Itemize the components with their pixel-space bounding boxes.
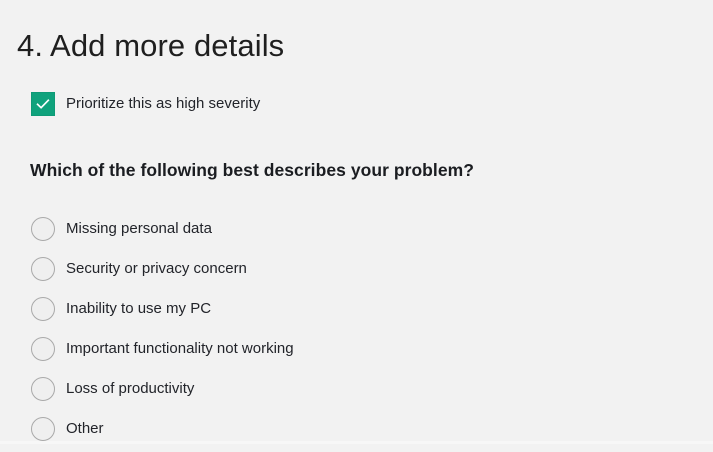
radio-option-important-functionality-not-working[interactable]: Important functionality not working <box>31 329 671 369</box>
bottom-spacer <box>0 444 713 452</box>
radio-option-label: Missing personal data <box>66 219 212 239</box>
check-icon <box>35 96 51 112</box>
radio-circle-icon[interactable] <box>31 257 55 281</box>
radio-option-label: Important functionality not working <box>66 339 294 359</box>
problem-type-radio-group: Missing personal data Security or privac… <box>31 209 671 449</box>
radio-option-inability-to-use-my-pc[interactable]: Inability to use my PC <box>31 289 671 329</box>
high-severity-checkbox-row[interactable]: Prioritize this as high severity <box>31 92 260 116</box>
radio-option-loss-of-productivity[interactable]: Loss of productivity <box>31 369 671 409</box>
radio-circle-icon[interactable] <box>31 417 55 441</box>
radio-option-label: Security or privacy concern <box>66 259 247 279</box>
radio-circle-icon[interactable] <box>31 377 55 401</box>
add-more-details-panel: 4. Add more details Prioritize this as h… <box>0 0 713 441</box>
radio-option-label: Other <box>66 419 104 439</box>
radio-circle-icon[interactable] <box>31 297 55 321</box>
page-title: 4. Add more details <box>17 26 284 66</box>
radio-circle-icon[interactable] <box>31 337 55 361</box>
high-severity-checkbox[interactable] <box>31 92 55 116</box>
radio-option-security-or-privacy-concern[interactable]: Security or privacy concern <box>31 249 671 289</box>
radio-option-missing-personal-data[interactable]: Missing personal data <box>31 209 671 249</box>
radio-circle-icon[interactable] <box>31 217 55 241</box>
question-heading: Which of the following best describes yo… <box>30 158 474 182</box>
high-severity-checkbox-label: Prioritize this as high severity <box>66 94 260 114</box>
radio-option-label: Inability to use my PC <box>66 299 211 319</box>
radio-option-label: Loss of productivity <box>66 379 194 399</box>
